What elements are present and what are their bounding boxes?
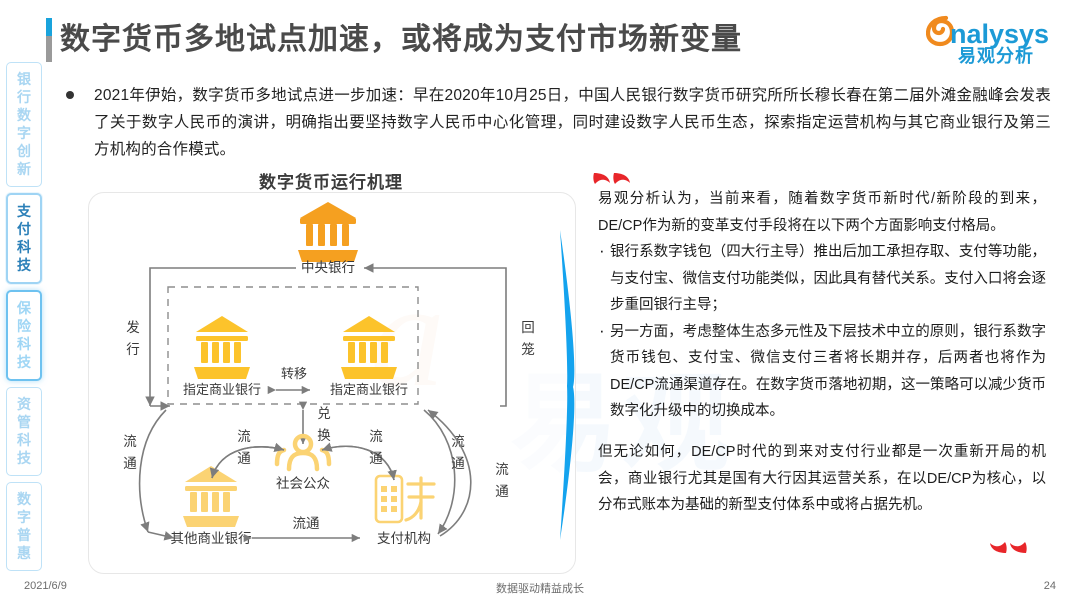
logo-wordmark: nalysys xyxy=(950,19,1049,49)
edge-label-circulate-outer-2: 通 xyxy=(495,484,509,499)
central-bank-icon xyxy=(298,202,358,262)
sidebar-item-insurance-tech[interactable]: 保 险 科 技 xyxy=(6,290,42,381)
quote-paragraph-1: 易观分析认为，当前来看，随着数字货币新时代/新阶段的到来，DE/CP作为新的变革… xyxy=(598,186,1046,239)
blue-swoosh-decoration xyxy=(556,222,582,548)
edge-label-exchange-2: 换 xyxy=(317,428,331,443)
bullet-dot-icon xyxy=(66,91,74,99)
sidebar-tabs: 银 行 数 字 创 新 支 付 科 技 保 险 科 技 资 管 科 技 数 字 xyxy=(4,62,46,577)
diagram-title: 数字货币运行机理 xyxy=(88,168,574,193)
edge-label-circulate-bottom: 流通 xyxy=(293,516,320,531)
sidebar-item-payment-tech[interactable]: 支 付 科 技 xyxy=(6,193,42,284)
edge-label-issue-1: 发 xyxy=(126,320,140,335)
edge-label-withdraw-2: 笼 xyxy=(521,341,535,357)
payment-institution-icon xyxy=(376,476,434,522)
quote-close-icon xyxy=(988,536,1030,561)
node-label-payment-org: 支付机构 xyxy=(377,531,431,546)
quote-bullet-item: 银行系数字钱包（四大行主导）推出后加工承担存取、支付等功能，与支付宝、微信支付功… xyxy=(598,239,1046,319)
quote-bullet-list: 银行系数字钱包（四大行主导）推出后加工承担存取、支付等功能，与支付宝、微信支付功… xyxy=(598,239,1046,425)
analysys-logo: nalysys 易观分析 xyxy=(926,10,1056,66)
edge-label-circulate-outer-1: 流 xyxy=(495,462,509,477)
footer-tagline: 数据驱动精益成长 xyxy=(0,580,1080,596)
body-bullet-text: 2021年伊始，数字货币多地试点进一步加速：早在2020年10月25日，中国人民… xyxy=(94,82,1051,163)
edge-label-issue-2: 行 xyxy=(126,342,140,357)
quote-bullet-item: 另一方面，考虑整体生态多元性及下层技术中立的原则，银行系数字货币钱包、支付宝、微… xyxy=(598,319,1046,425)
designated-bank-left-icon xyxy=(194,316,250,379)
slide-root: a 易观 数字货币多地试点加速，或将成为支付市场新变量 nalysys 易观分析… xyxy=(0,0,1080,608)
node-label-designated-bank-left: 指定商业银行 xyxy=(183,382,261,397)
logo-swirl-icon xyxy=(928,18,952,44)
node-label-other-bank: 其他商业银行 xyxy=(171,531,252,546)
edge-label-exchange-1: 兑 xyxy=(317,406,331,421)
designated-bank-right-icon xyxy=(341,316,397,379)
logo-chinese: 易观分析 xyxy=(958,45,1034,66)
title-accent-bar xyxy=(46,18,52,62)
sidebar-item-asset-management-tech[interactable]: 资 管 科 技 xyxy=(6,387,42,476)
body-bullet-row: 2021年伊始，数字货币多地试点进一步加速：早在2020年10月25日，中国人民… xyxy=(66,82,1051,163)
footer-page-number: 24 xyxy=(1044,580,1056,592)
quote-panel: 易观分析认为，当前来看，随着数字货币新时代/新阶段的到来，DE/CP作为新的变革… xyxy=(598,186,1046,533)
slide-footer: 2021/6/9 数据驱动精益成长 24 xyxy=(0,580,1080,598)
node-label-central-bank: 中央银行 xyxy=(301,260,355,275)
digital-currency-flow-diagram: 中央银行 发 行 回 笼 指定商业银行 xyxy=(88,192,574,572)
edge-label-transfer: 转移 xyxy=(281,366,307,381)
edge-label-circulate-pub-left-1: 流 xyxy=(237,429,251,444)
sidebar-item-bank-digital-innovation[interactable]: 银 行 数 字 创 新 xyxy=(6,62,42,187)
sidebar-item-digital-inclusive-finance[interactable]: 数 字 普 惠 xyxy=(6,482,42,571)
edge-label-withdraw-1: 回 xyxy=(521,320,535,335)
edge-label-circulate-left-1: 流 xyxy=(123,434,137,449)
page-title: 数字货币多地试点加速，或将成为支付市场新变量 xyxy=(60,18,742,62)
other-bank-icon xyxy=(183,466,239,527)
node-label-public: 社会公众 xyxy=(276,476,330,491)
node-label-designated-bank-right: 指定商业银行 xyxy=(330,382,408,397)
edge-label-circulate-pub-right-2: 通 xyxy=(369,451,383,466)
quote-paragraph-2: 但无论如何，DE/CP时代的到来对支付行业都是一次重新开局的机会，商业银行尤其是… xyxy=(598,439,1046,519)
edge-label-circulate-right-2: 通 xyxy=(451,456,465,471)
edge-label-circulate-pub-left-2: 通 xyxy=(237,451,251,466)
edge-label-circulate-left-2: 通 xyxy=(123,456,137,471)
edge-label-circulate-pub-right-1: 流 xyxy=(369,429,383,444)
